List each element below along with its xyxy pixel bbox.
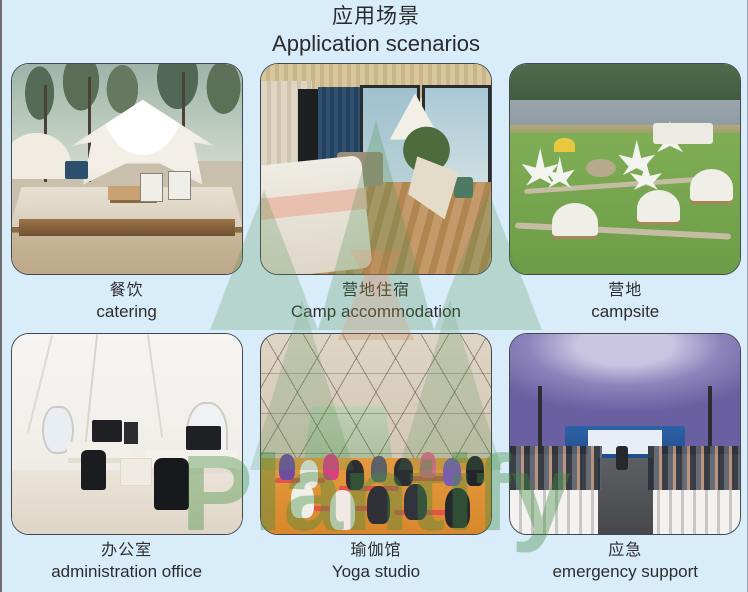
campsite-caption-en: campsite [591, 301, 659, 322]
catering-caption: 餐饮 catering [96, 280, 156, 322]
campsite-caption: 营地 campsite [591, 280, 659, 322]
scenario-row-1: 餐饮 catering [2, 63, 748, 322]
catering-caption-cn: 餐饮 [96, 280, 156, 301]
page-title: 应用场景 Application scenarios [2, 4, 748, 57]
yoga-studio-caption: 瑜伽馆 Yoga studio [332, 540, 420, 582]
administration-office-caption: 办公室 administration office [51, 540, 202, 582]
scenario-card-campsite[interactable]: 营地 campsite [501, 63, 748, 322]
administration-office-photo [11, 333, 243, 535]
emergency-support-caption: 应急 emergency support [552, 540, 698, 582]
scenario-card-catering[interactable]: 餐饮 catering [2, 63, 251, 322]
scenario-card-yoga-studio[interactable]: 瑜伽馆 Yoga studio [251, 333, 500, 582]
scenario-grid: 餐饮 catering [2, 63, 748, 582]
scenario-card-camp-accommodation[interactable]: 营地住宿 Camp accommodation [251, 63, 500, 322]
camp-accommodation-photo [260, 63, 492, 275]
camp-accommodation-caption-cn: 营地住宿 [291, 280, 461, 301]
page-title-cn: 应用场景 [2, 4, 748, 30]
camp-accommodation-caption-en: Camp accommodation [291, 301, 461, 322]
catering-photo [11, 63, 243, 275]
emergency-support-caption-en: emergency support [552, 561, 698, 582]
yoga-studio-caption-en: Yoga studio [332, 561, 420, 582]
campsite-photo [509, 63, 741, 275]
camp-accommodation-caption: 营地住宿 Camp accommodation [291, 280, 461, 322]
yoga-studio-caption-cn: 瑜伽馆 [332, 540, 420, 561]
application-scenarios-page: 应用场景 Application scenarios [0, 0, 748, 592]
emergency-support-caption-cn: 应急 [552, 540, 698, 561]
administration-office-caption-en: administration office [51, 561, 202, 582]
catering-caption-en: catering [96, 301, 156, 322]
administration-office-caption-cn: 办公室 [51, 540, 202, 561]
scenario-card-emergency-support[interactable]: 应急 emergency support [501, 333, 748, 582]
campsite-caption-cn: 营地 [591, 280, 659, 301]
scenario-card-administration-office[interactable]: 办公室 administration office [2, 333, 251, 582]
yoga-studio-photo [260, 333, 492, 535]
emergency-support-photo [509, 333, 741, 535]
page-title-en: Application scenarios [2, 30, 748, 57]
scenario-row-2: 办公室 administration office [2, 333, 748, 582]
